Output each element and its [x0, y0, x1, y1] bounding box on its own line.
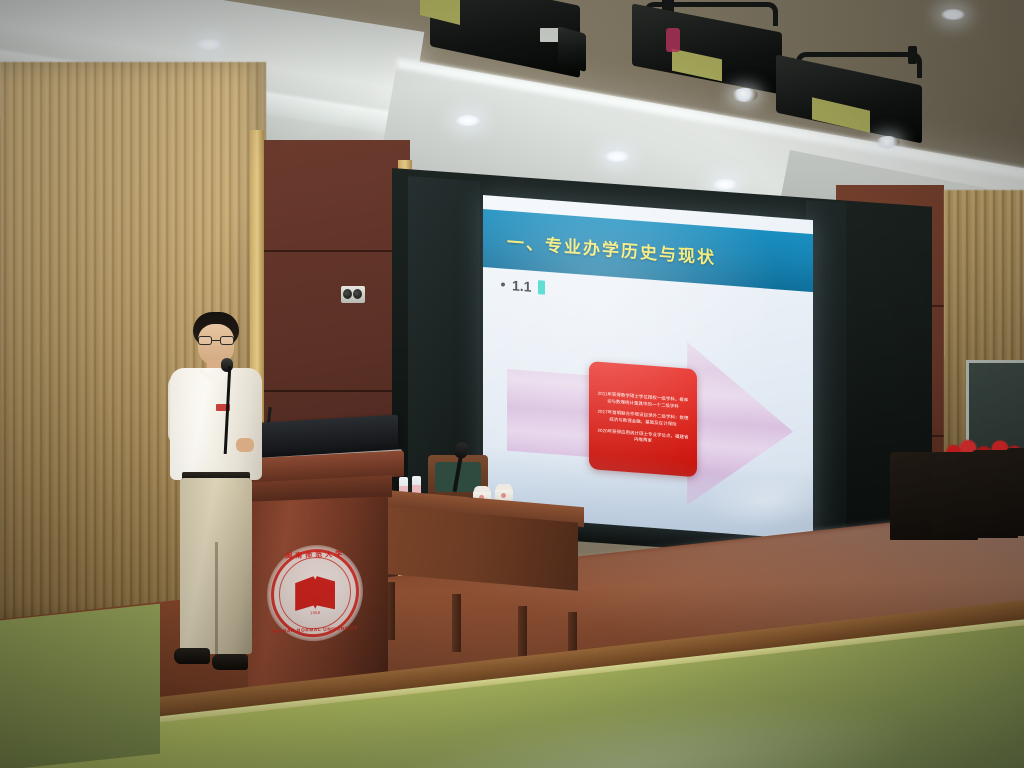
- university-emblem: 闽南师范大学 1958 MINNAN NORMAL UNIVERSITY: [267, 543, 363, 643]
- callout-line: 2017年首明联合作增设目录外二级学科：数理经济与数理金融、基础及在计保险: [596, 409, 690, 429]
- downlight-icon: [196, 38, 222, 51]
- lecture-hall-photo: 一、专业办学历史与现状 1.1 2011年获得数学硕士学位授权一级学科，概率论与…: [0, 0, 1024, 768]
- slide-surface: 一、专业办学历史与现状 1.1 2011年获得数学硕士学位授权一级学科，概率论与…: [483, 195, 813, 540]
- glasses-icon: [198, 336, 234, 345]
- bullet-dot-icon: [501, 282, 505, 286]
- table-leg: [452, 594, 461, 652]
- slide-title: 一、专业办学历史与现状: [483, 226, 716, 269]
- teacup-lid: [496, 484, 512, 490]
- handheld-microphone-icon: [221, 358, 233, 372]
- callout-line: 2020年获得应用统计硕士专业学位点，福建省内唯两家: [596, 427, 690, 447]
- downlight-icon: [604, 150, 630, 163]
- emblem-chinese-name: 闽南师范大学: [267, 548, 363, 562]
- trouser-seam: [215, 542, 218, 654]
- presenter-shoe: [174, 648, 210, 664]
- presenter-hand: [236, 438, 254, 452]
- stage-table: [372, 498, 584, 638]
- slide-bullet-row: 1.1: [501, 276, 545, 295]
- stage-spotlight-icon: [768, 42, 958, 147]
- audience-chair: [890, 452, 936, 540]
- callout-line: 2011年获得数学硕士学位授权一级学科，概率论与数理统计是其中的一个二级学科: [596, 391, 690, 411]
- presenter-shirt: [170, 368, 262, 480]
- presenter: [160, 312, 270, 702]
- stage-spotlight-icon: [420, 0, 610, 80]
- audience-chair: [1006, 448, 1024, 536]
- table-leg: [518, 606, 527, 656]
- slide-bullet-number: 1.1: [512, 277, 531, 294]
- wall-speaker-icon: [341, 286, 365, 303]
- apron-highlight: [360, 677, 920, 768]
- teacup-lid: [474, 486, 490, 492]
- presenter-shoe: [212, 654, 248, 670]
- projection-screen: 一、专业办学历史与现状 1.1 2011年获得数学硕士学位授权一级学科，概率论与…: [483, 195, 813, 540]
- downlight-icon: [455, 114, 481, 127]
- bullet-highlight-marker: [538, 280, 545, 295]
- downlight-icon: [712, 178, 738, 191]
- downlight-icon: [940, 8, 966, 21]
- stage-step: [0, 604, 160, 768]
